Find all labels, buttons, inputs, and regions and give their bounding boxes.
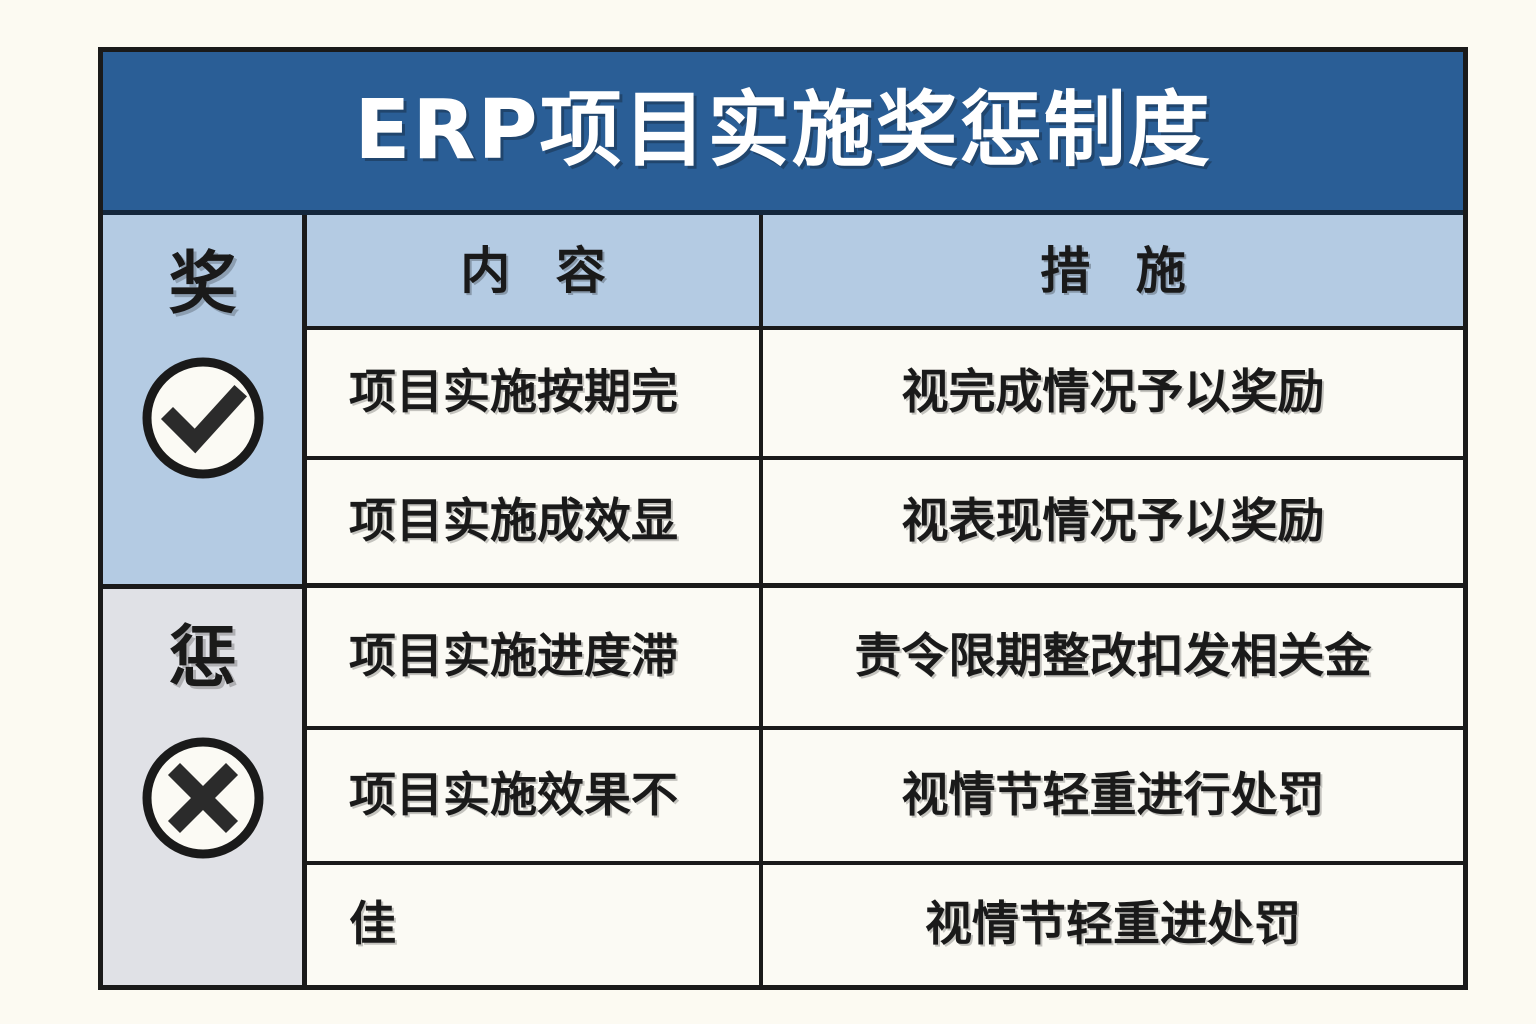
cell-text: 视表现情况予以奖励	[902, 497, 1325, 546]
cell-measure: 责令限期整改扣发相关金	[763, 588, 1463, 726]
cell-text: 项目实施进度滞	[349, 632, 678, 681]
table-row: 项目实施按期完 视完成情况予以奖励	[307, 330, 1463, 460]
page-title: ERP项目实施奖惩制度	[354, 90, 1211, 172]
cell-text: 项目实施按期完	[349, 368, 678, 417]
table-row: 项目实施进度滞 责令限期整改扣发相关金	[307, 588, 1463, 730]
cell-text: 佳	[349, 900, 396, 949]
column-header-measure-label: 措 施	[1026, 246, 1199, 296]
cell-measure: 视情节轻重进行处罚	[763, 730, 1463, 861]
cell-content: 项目实施效果不	[307, 730, 763, 861]
cell-text: 视完成情况予以奖励	[902, 368, 1325, 417]
category-column: 奖 惩	[103, 215, 307, 985]
column-header-measure: 措 施	[763, 215, 1463, 326]
cell-text: 责令限期整改扣发相关金	[855, 632, 1372, 681]
category-cell-penalty: 惩	[103, 589, 302, 985]
cell-text: 视情节轻重进处罚	[925, 900, 1301, 949]
category-label-reward: 奖	[168, 251, 236, 319]
content-column: 内 容 措 施 项目实施按期完 视完成情况予以奖励 项目实施成效显	[307, 215, 1463, 985]
cell-content: 佳	[307, 865, 763, 985]
cell-text: 视情节轻重进行处罚	[902, 771, 1325, 820]
title-banner: ERP项目实施奖惩制度	[103, 52, 1463, 215]
reward-penalty-table: ERP项目实施奖惩制度 奖 惩	[98, 47, 1468, 990]
column-header-content-label: 内 容	[446, 246, 619, 296]
table-row: 项目实施效果不 视情节轻重进行处罚	[307, 730, 1463, 865]
category-cell-reward: 奖	[103, 215, 302, 589]
cell-text: 项目实施效果不	[349, 771, 678, 820]
cell-measure: 视表现情况予以奖励	[763, 460, 1463, 583]
category-label-penalty: 惩	[168, 625, 236, 693]
cell-measure: 视情节轻重进处罚	[763, 865, 1463, 985]
table-row: 佳 视情节轻重进处罚	[307, 865, 1463, 985]
cell-text: 项目实施成效显	[349, 497, 678, 546]
cell-measure: 视完成情况予以奖励	[763, 330, 1463, 456]
cell-content: 项目实施成效显	[307, 460, 763, 583]
check-circle-icon	[140, 355, 266, 485]
x-circle-icon	[140, 735, 266, 865]
cell-content: 项目实施进度滞	[307, 588, 763, 726]
cell-content: 项目实施按期完	[307, 330, 763, 456]
table-body: 奖 惩	[103, 215, 1463, 985]
table-row: 项目实施成效显 视表现情况予以奖励	[307, 460, 1463, 588]
column-header-content: 内 容	[307, 215, 763, 326]
table-header-row: 内 容 措 施	[307, 215, 1463, 330]
